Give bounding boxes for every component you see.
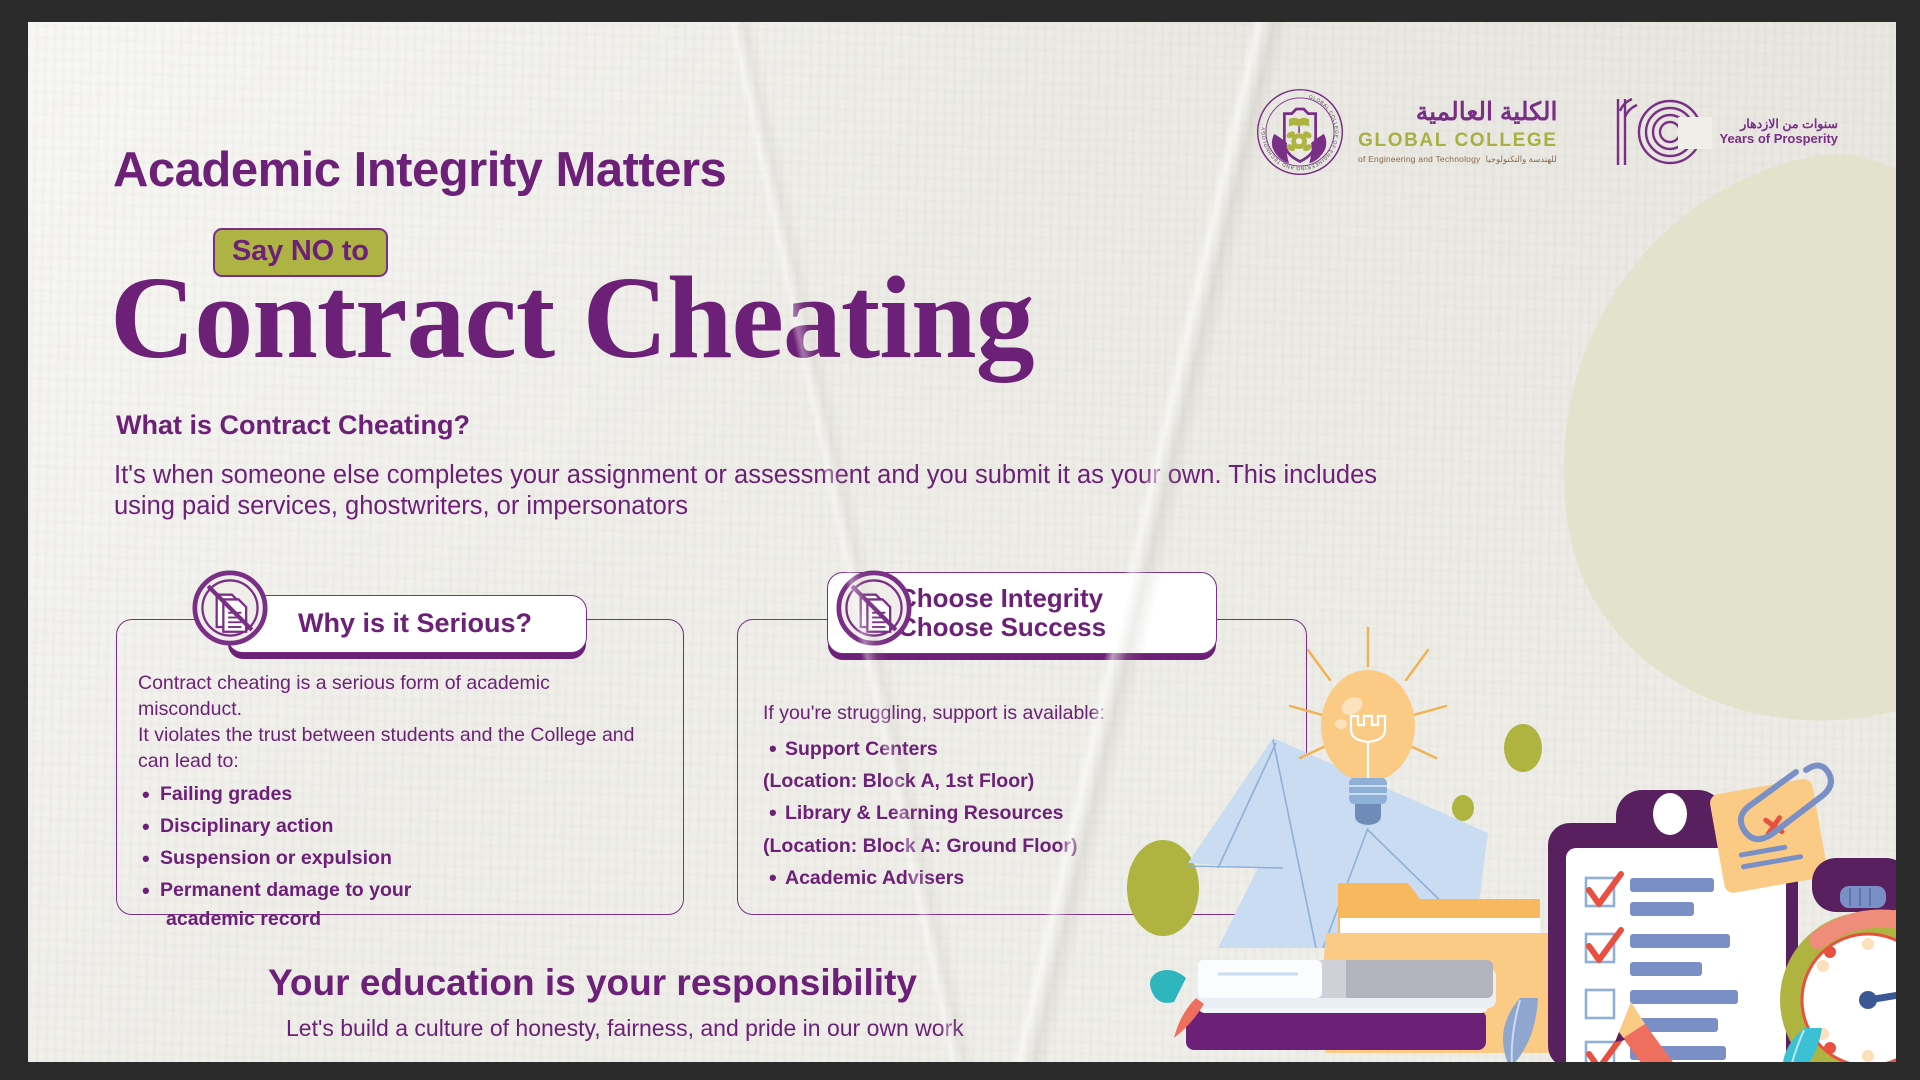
poster-canvas: Academic Integrity Matters Say NO to Con… bbox=[28, 22, 1896, 1062]
what-is-answer: It's when someone else completes your as… bbox=[114, 460, 1414, 522]
anniversary-logo: سنوات من الازدهار Years of Prosperity bbox=[1604, 93, 1839, 171]
books-icon bbox=[1150, 960, 1496, 1050]
footer-subtext: Let's build a culture of honesty, fairne… bbox=[286, 1015, 964, 1042]
list-item: Failing grades bbox=[138, 781, 658, 807]
study-illustration bbox=[1068, 618, 1896, 1062]
logo-arabic-name: الكلية العالمية bbox=[1358, 100, 1557, 125]
what-is-heading: What is Contract Cheating? bbox=[116, 410, 470, 441]
logo-english-name: GLOBAL COLLEGE bbox=[1358, 131, 1557, 150]
college-crest-icon: GLOBAL COLLEGE OF ENGINEERING AND TECHNO… bbox=[1254, 86, 1346, 178]
card-left-intro-1: Contract cheating is a serious form of a… bbox=[138, 670, 658, 722]
card-left-intro-2: It violates the trust between students a… bbox=[138, 722, 658, 774]
logo-subtitle: of Engineering and Technology للهندسة وا… bbox=[1358, 155, 1557, 164]
decorative-dot bbox=[1127, 840, 1199, 936]
card-left-bullets: Failing grades Disciplinary action Suspe… bbox=[138, 781, 658, 933]
card-left-tab: Why is it Serious? bbox=[227, 595, 587, 653]
card-left-body: Contract cheating is a serious form of a… bbox=[138, 670, 658, 932]
decorative-dot bbox=[1504, 724, 1542, 772]
card-left-tab-label: Why is it Serious? bbox=[298, 609, 560, 639]
svg-text:GLOBAL COLLEGE OF ENGINEERING: GLOBAL COLLEGE OF ENGINEERING AND TECHNO… bbox=[1261, 94, 1339, 171]
list-item: Permanent damage to your bbox=[138, 877, 658, 903]
anniversary-arabic: سنوات من الازدهار bbox=[1720, 117, 1839, 131]
page-title: Contract Cheating bbox=[110, 259, 1034, 377]
logo-group: GLOBAL COLLEGE OF ENGINEERING AND TECHNO… bbox=[1254, 86, 1838, 178]
list-item: Disciplinary action bbox=[138, 813, 658, 839]
college-logo: GLOBAL COLLEGE OF ENGINEERING AND TECHNO… bbox=[1254, 86, 1557, 178]
anniversary-english: Years of Prosperity bbox=[1720, 132, 1839, 147]
page-headline: Academic Integrity Matters bbox=[113, 142, 726, 198]
ten-years-icon bbox=[1604, 93, 1712, 171]
list-item-continuation: academic record bbox=[138, 906, 658, 932]
footer-headline: Your education is your responsibility bbox=[268, 962, 917, 1004]
card-right-tab-line1: Choose Integrity bbox=[898, 584, 1190, 613]
decorative-dot bbox=[1452, 795, 1474, 821]
list-item: Suspension or expulsion bbox=[138, 845, 658, 871]
